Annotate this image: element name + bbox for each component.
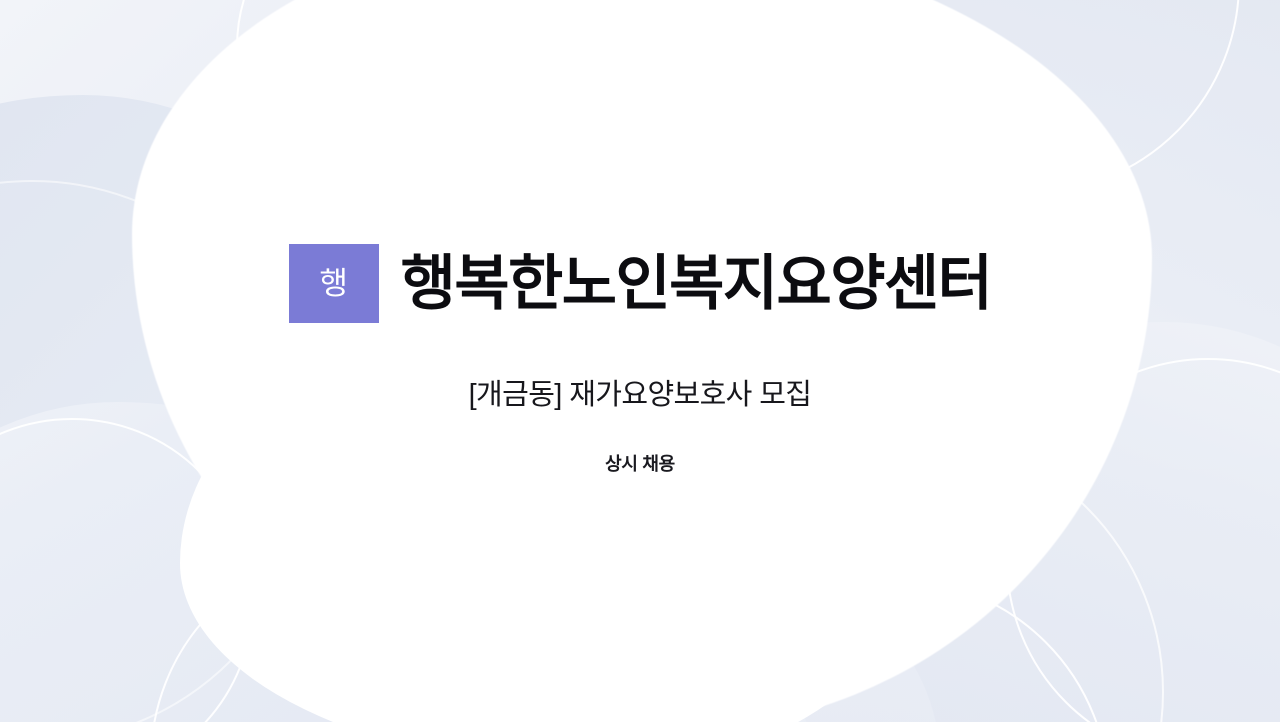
banner-content: 행 행복한노인복지요양센터 [개금동] 재가요양보호사 모집 상시 채용 [0, 0, 1280, 722]
company-header: 행 행복한노인복지요양센터 [289, 244, 992, 323]
job-title: [개금동] 재가요양보호사 모집 [469, 371, 812, 413]
hiring-status-badge: 상시 채용 [605, 450, 675, 476]
company-logo-initial: 행 [319, 268, 348, 299]
job-posting-banner: 행 행복한노인복지요양센터 [개금동] 재가요양보호사 모집 상시 채용 [0, 0, 1280, 722]
company-logo-badge: 행 [289, 244, 379, 323]
company-name: 행복한노인복지요양센터 [401, 252, 992, 315]
